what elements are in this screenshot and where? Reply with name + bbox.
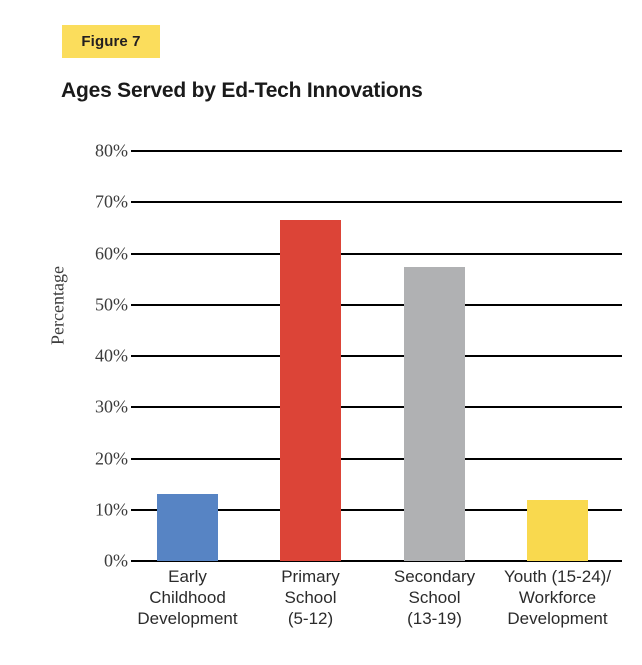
x-axis-label-line: Primary (241, 566, 381, 587)
bar (404, 267, 465, 561)
bar (157, 494, 218, 561)
x-axis-label-line: Development (483, 608, 633, 629)
bar (280, 220, 341, 561)
bar (527, 500, 588, 562)
x-axis-label-line: Youth (15-24)/ (483, 566, 633, 587)
chart-plot-area: 0%10%20%30%40%50%60%70%80% Percentage Ea… (0, 0, 642, 665)
x-axis-label-line: (5-12) (241, 608, 381, 629)
x-axis-label: Youth (15-24)/WorkforceDevelopment (483, 566, 633, 629)
x-axis-label-line: School (241, 587, 381, 608)
figure-container: Figure 7 Ages Served by Ed-Tech Innovati… (0, 0, 642, 665)
y-axis-title: Percentage (48, 226, 69, 386)
x-axis-label-line: Workforce (483, 587, 633, 608)
x-axis-labels: EarlyChildhoodDevelopmentPrimarySchool(5… (0, 566, 642, 661)
x-axis-label: PrimarySchool(5-12) (241, 566, 381, 629)
